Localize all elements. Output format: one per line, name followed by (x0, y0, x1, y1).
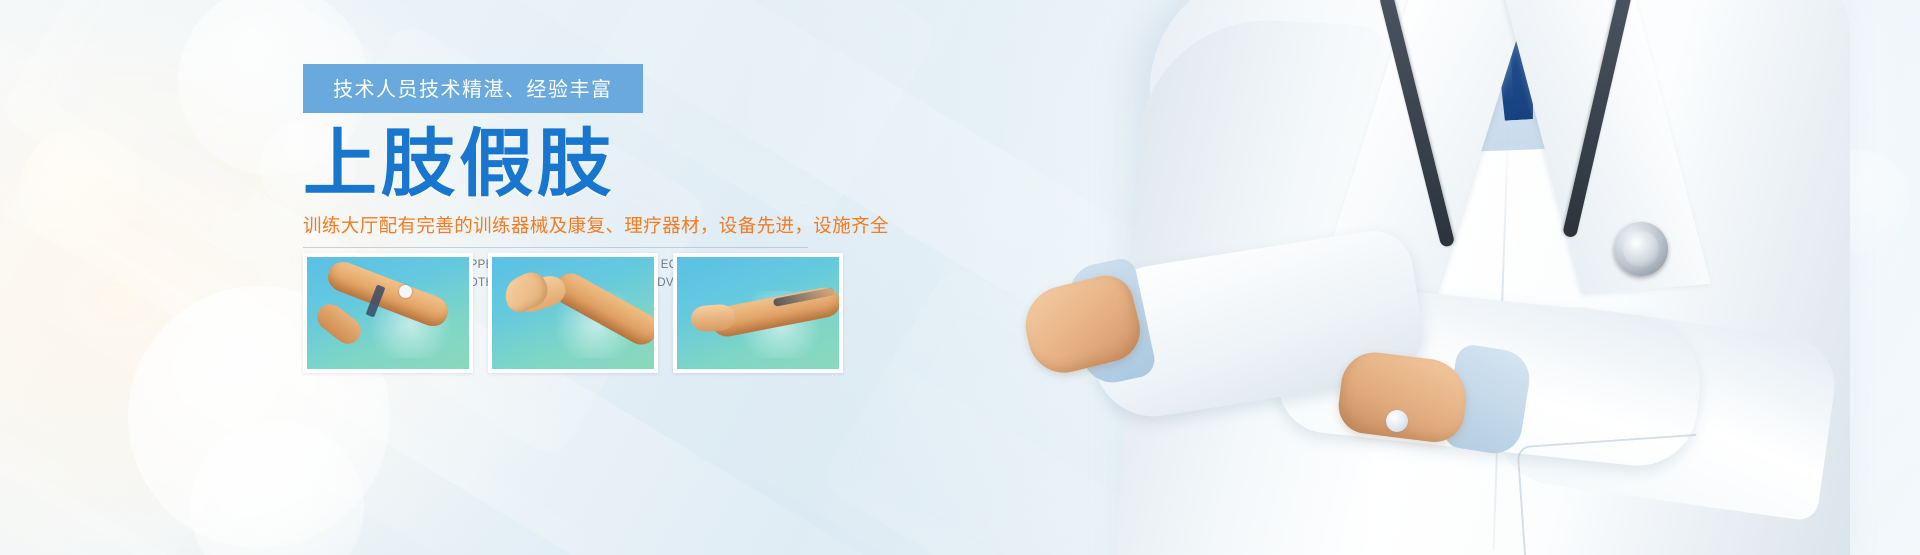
divider (303, 247, 808, 248)
product-thumbnail-list (303, 253, 843, 373)
prosthetic-knob (399, 285, 412, 298)
subtitle-text: 训练大厅配有完善的训练器械及康复、理疗器材，设备先进，设施齐全 (303, 212, 863, 238)
lab-coat-button (1386, 410, 1408, 432)
stethoscope-chestpiece (1614, 222, 1668, 276)
bokeh-circle (20, 128, 140, 248)
tagline-badge: 技术人员技术精湛、经验丰富 (303, 64, 643, 113)
page-title: 上肢假肢 (303, 125, 863, 203)
doctor-figure (980, 0, 1920, 555)
product-thumbnail[interactable] (488, 253, 658, 373)
lab-coat-pocket (1516, 434, 1703, 555)
product-thumbnail[interactable] (673, 253, 843, 373)
hero-banner: 技术人员技术精湛、经验丰富 上肢假肢 训练大厅配有完善的训练器械及康复、理疗器材… (0, 0, 1920, 555)
product-thumbnail[interactable] (303, 253, 473, 373)
